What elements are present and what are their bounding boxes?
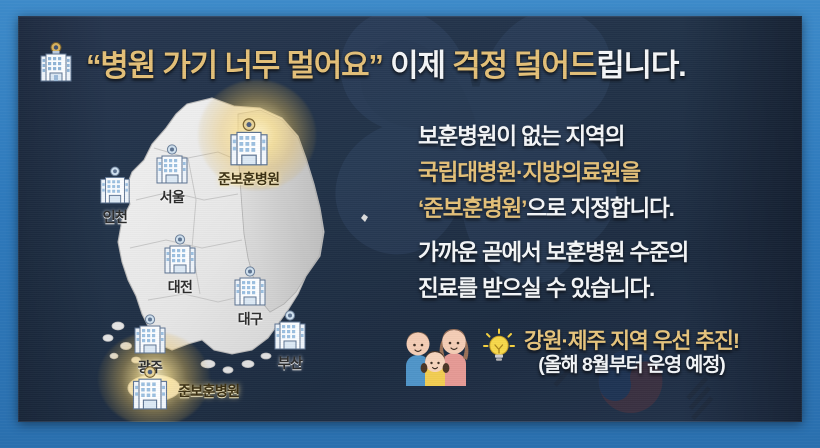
- map-pin-incheon[interactable]: 인천: [98, 166, 132, 224]
- map-pin-label: 대전: [168, 280, 193, 294]
- hospital-building-icon: [162, 234, 198, 278]
- hospital-building-icon: [232, 266, 268, 310]
- copy-span: 진료를 받으실 수 있습니다.: [418, 276, 654, 301]
- hospital-building-icon: [130, 366, 170, 414]
- korea-map: 인천 서울 준보훈병원 대전: [92, 88, 412, 418]
- headline-seg-2: 걱정 덬어드: [452, 48, 596, 83]
- headline-seg-3: 립니다.: [596, 48, 685, 83]
- hospital-building-icon: [38, 42, 74, 82]
- family-group-icon: [402, 320, 474, 386]
- infographic-card: “병원 가기 너무 멀어요” 이제 걱정 덬어드립니다.: [0, 0, 820, 448]
- banner-line-2: (올해 8월부터 운영 예정): [524, 354, 739, 377]
- headline-seg-1: 이제: [383, 48, 452, 83]
- map-pin-label: 준보훈병원: [178, 384, 239, 398]
- copy-span: 가까운 곧에서 보훈병원 수준의: [418, 240, 688, 265]
- hospital-building-icon: [154, 144, 190, 188]
- hospital-building-icon: [132, 314, 168, 358]
- copy-p2-line1: 가까운 곧에서 보훈병원 수준의: [418, 238, 802, 268]
- copy-span: 보훈병원이 없는 지역의: [418, 124, 624, 149]
- map-pin-label: 대구: [238, 312, 263, 326]
- map-pin-busan[interactable]: 부산: [272, 310, 308, 370]
- copy-p1-line2: 국립대병원·지방의료원을: [418, 158, 802, 188]
- hospital-building-icon: [98, 166, 132, 208]
- priority-banner: 강원·제주 지역 우선 추진! (올해 8월부터 운영 예정): [402, 318, 802, 388]
- banner-line-1: 강원·제주 지역 우선 추진!: [524, 329, 739, 354]
- map-pin-label: 준보훈병원: [218, 172, 279, 186]
- map-pin-gangwon[interactable]: 준보훈병원: [218, 118, 279, 186]
- headline-seg-0: “병원 가기 너무 멀어요”: [86, 48, 383, 83]
- lightbulb-idea-icon: [482, 328, 516, 364]
- banner-text: 강원·제주 지역 우선 추진! (올해 8월부터 운영 예정): [524, 329, 739, 377]
- body-copy: 보훈병원이 없는 지역의 국립대병원·지방의료원을 ‘준보훈병원’으로 지정합니…: [418, 122, 802, 310]
- copy-span: 국립대병원·지방의료원을: [418, 160, 640, 185]
- map-pin-daegu[interactable]: 대구: [232, 266, 268, 326]
- copy-span: 으로 지정합니다.: [526, 196, 674, 221]
- map-pin-jeju[interactable]: 준보훈병원: [130, 366, 239, 414]
- map-pin-label: 인천: [103, 210, 128, 224]
- copy-p1-line3: ‘준보훈병원’으로 지정합니다.: [418, 194, 802, 224]
- headline-row: “병원 가기 너무 멀어요” 이제 걱정 덬어드립니다.: [38, 32, 786, 92]
- copy-span: ‘준보훈병원’: [418, 196, 526, 221]
- content-panel: “병원 가기 너무 멀어요” 이제 걱정 덬어드립니다.: [18, 16, 802, 422]
- map-pin-seoul[interactable]: 서울: [154, 144, 190, 204]
- page-title: “병원 가기 너무 멀어요” 이제 걱정 덬어드립니다.: [86, 40, 686, 85]
- hospital-building-icon: [227, 118, 271, 170]
- hospital-building-icon: [272, 310, 308, 354]
- map-pin-daejeon[interactable]: 대전: [162, 234, 198, 294]
- map-pin-gwangju[interactable]: 광주: [132, 314, 168, 374]
- copy-p2-line2: 진료를 받으실 수 있습니다.: [418, 274, 802, 304]
- map-pin-label: 서울: [160, 190, 185, 204]
- map-pin-label: 부산: [278, 356, 303, 370]
- copy-p1-line1: 보훈병원이 없는 지역의: [418, 122, 802, 152]
